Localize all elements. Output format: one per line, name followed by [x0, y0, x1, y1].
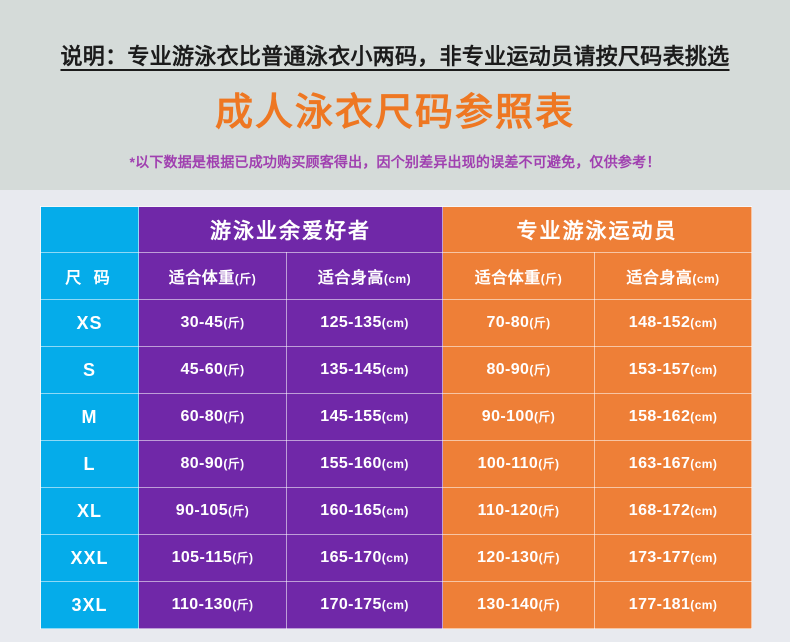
cell-pro-height: 153-157(cm) [595, 347, 752, 394]
cell-amateur-height-value: 155-160 [320, 455, 382, 472]
cell-amateur-weight-value: 60-80 [180, 408, 223, 425]
cell-pro-weight: 120-130(斤) [443, 535, 595, 582]
cell-pro-height-unit: (cm) [690, 504, 717, 518]
cell-amateur-height-unit: (cm) [382, 410, 409, 424]
cell-pro-weight: 130-140(斤) [443, 582, 595, 629]
cell-pro-height: 163-167(cm) [595, 441, 752, 488]
cell-amateur-weight-value: 110-130 [172, 596, 233, 613]
table-row: XS 30-45(斤) 125-135(cm) 70-80(斤) 148-152… [41, 300, 752, 347]
column-header-amateur-weight-unit: (斤) [235, 272, 257, 286]
column-header-pro-weight-label: 适合体重 [475, 270, 541, 287]
cell-amateur-height-value: 165-170 [320, 549, 382, 566]
cell-pro-height-unit: (cm) [690, 316, 717, 330]
column-header-pro-height-label: 适合身高 [626, 270, 692, 287]
cell-pro-weight-value: 70-80 [486, 314, 529, 331]
cell-amateur-height-value: 170-175 [320, 596, 382, 613]
cell-pro-height-unit: (cm) [690, 363, 717, 377]
cell-amateur-height-unit: (cm) [382, 504, 409, 518]
cell-amateur-height: 155-160(cm) [287, 441, 443, 488]
column-header-pro-weight: 适合体重(斤) [443, 253, 595, 300]
cell-amateur-weight: 105-115(斤) [139, 535, 287, 582]
instruction-note-text: 说明：专业游泳衣比普通泳衣小两码，非专业运动员请按尺码表挑选 [60, 44, 729, 69]
cell-pro-height-unit: (cm) [690, 457, 717, 471]
group-header-professional: 专业游泳运动员 [443, 207, 752, 253]
cell-amateur-weight-unit: (斤) [228, 504, 249, 518]
cell-amateur-height: 125-135(cm) [287, 300, 443, 347]
cell-amateur-weight-unit: (斤) [223, 316, 244, 330]
cell-pro-weight: 110-120(斤) [443, 488, 595, 535]
cell-pro-weight-unit: (斤) [529, 363, 550, 377]
cell-pro-height-value: 168-172 [629, 502, 691, 519]
header-band: 说明：专业游泳衣比普通泳衣小两码，非专业运动员请按尺码表挑选 成人泳衣尺码参照表… [0, 0, 790, 190]
table-row: M 60-80(斤) 145-155(cm) 90-100(斤) 158-162… [41, 394, 752, 441]
cell-pro-height-unit: (cm) [690, 410, 717, 424]
table-sub-header-row: 尺 码 适合体重(斤) 适合身高(cm) 适合体重(斤) 适合身高(cm) [41, 253, 752, 300]
cell-size: M [41, 394, 139, 441]
cell-amateur-weight-unit: (斤) [232, 598, 253, 612]
cell-pro-weight-unit: (斤) [534, 410, 555, 424]
column-header-amateur-height: 适合身高(cm) [287, 253, 443, 300]
cell-amateur-height: 135-145(cm) [287, 347, 443, 394]
table-group-header-row: 游泳业余爱好者 专业游泳运动员 [41, 207, 752, 253]
column-header-pro-height-unit: (cm) [692, 272, 719, 286]
cell-amateur-weight-value: 90-105 [176, 502, 228, 519]
table-row: S 45-60(斤) 135-145(cm) 80-90(斤) 153-157(… [41, 347, 752, 394]
cell-pro-height: 168-172(cm) [595, 488, 752, 535]
cell-pro-height-value: 153-157 [629, 361, 691, 378]
cell-pro-weight-value: 80-90 [486, 361, 529, 378]
cell-amateur-height-unit: (cm) [382, 551, 409, 565]
cell-amateur-height-unit: (cm) [382, 363, 409, 377]
cell-pro-height: 177-181(cm) [595, 582, 752, 629]
disclaimer-note: *以下数据是根据已成功购买顾客得出，因个别差异出现的误差不可避免，仅供参考！ [0, 152, 790, 172]
cell-size: 3XL [41, 582, 139, 629]
cell-amateur-weight: 80-90(斤) [139, 441, 287, 488]
cell-amateur-height: 170-175(cm) [287, 582, 443, 629]
instruction-note: 说明：专业游泳衣比普通泳衣小两码，非专业运动员请按尺码表挑选 [0, 44, 790, 69]
page-title: 成人泳衣尺码参照表 [0, 92, 790, 136]
cell-size: XL [41, 488, 139, 535]
cell-amateur-weight-unit: (斤) [232, 551, 253, 565]
cell-pro-height-value: 177-181 [629, 596, 691, 613]
cell-amateur-weight-unit: (斤) [223, 410, 244, 424]
cell-pro-weight-value: 120-130 [477, 549, 539, 566]
cell-amateur-weight-unit: (斤) [223, 457, 244, 471]
column-header-size: 尺 码 [41, 253, 139, 300]
cell-amateur-weight-unit: (斤) [223, 363, 244, 377]
column-header-amateur-weight: 适合体重(斤) [139, 253, 287, 300]
cell-pro-weight-value: 100-110 [478, 455, 539, 472]
cell-pro-weight-unit: (斤) [538, 457, 559, 471]
cell-amateur-weight-value: 80-90 [180, 455, 223, 472]
cell-pro-height-value: 163-167 [629, 455, 691, 472]
cell-pro-weight-unit: (斤) [539, 551, 560, 565]
cell-size: L [41, 441, 139, 488]
cell-amateur-height: 145-155(cm) [287, 394, 443, 441]
cell-amateur-height-unit: (cm) [382, 598, 409, 612]
cell-amateur-height-value: 125-135 [320, 314, 382, 331]
cell-size: S [41, 347, 139, 394]
cell-amateur-weight: 60-80(斤) [139, 394, 287, 441]
table-row: XL 90-105(斤) 160-165(cm) 110-120(斤) 168-… [41, 488, 752, 535]
group-header-size-blank [41, 207, 139, 253]
cell-amateur-weight-value: 30-45 [180, 314, 223, 331]
cell-pro-weight: 70-80(斤) [443, 300, 595, 347]
cell-amateur-weight: 30-45(斤) [139, 300, 287, 347]
size-chart-table: 游泳业余爱好者 专业游泳运动员 尺 码 适合体重(斤) 适合身高(cm) 适合体… [40, 206, 752, 629]
cell-amateur-height: 160-165(cm) [287, 488, 443, 535]
cell-pro-weight-value: 90-100 [482, 408, 534, 425]
cell-amateur-weight-value: 105-115 [172, 549, 233, 566]
cell-pro-height-unit: (cm) [690, 598, 717, 612]
cell-pro-weight-value: 130-140 [477, 596, 539, 613]
cell-pro-weight-unit: (斤) [538, 504, 559, 518]
cell-pro-weight-unit: (斤) [529, 316, 550, 330]
cell-amateur-height: 165-170(cm) [287, 535, 443, 582]
cell-pro-weight: 80-90(斤) [443, 347, 595, 394]
cell-size: XXL [41, 535, 139, 582]
cell-pro-height: 173-177(cm) [595, 535, 752, 582]
group-header-amateur: 游泳业余爱好者 [139, 207, 443, 253]
cell-amateur-height-unit: (cm) [382, 316, 409, 330]
column-header-pro-weight-unit: (斤) [541, 272, 563, 286]
table-row: XXL 105-115(斤) 165-170(cm) 120-130(斤) 17… [41, 535, 752, 582]
cell-pro-weight-unit: (斤) [539, 598, 560, 612]
cell-pro-height-unit: (cm) [690, 551, 717, 565]
cell-pro-height: 148-152(cm) [595, 300, 752, 347]
column-header-amateur-height-label: 适合身高 [318, 270, 384, 287]
cell-amateur-height-unit: (cm) [382, 457, 409, 471]
cell-pro-weight-value: 110-120 [478, 502, 539, 519]
table-row: L 80-90(斤) 155-160(cm) 100-110(斤) 163-16… [41, 441, 752, 488]
cell-pro-weight: 90-100(斤) [443, 394, 595, 441]
cell-amateur-height-value: 135-145 [320, 361, 382, 378]
cell-pro-weight: 100-110(斤) [443, 441, 595, 488]
cell-amateur-weight: 90-105(斤) [139, 488, 287, 535]
cell-amateur-weight: 110-130(斤) [139, 582, 287, 629]
cell-amateur-weight-value: 45-60 [180, 361, 223, 378]
cell-amateur-weight: 45-60(斤) [139, 347, 287, 394]
cell-pro-height-value: 158-162 [629, 408, 691, 425]
column-header-amateur-height-unit: (cm) [384, 272, 411, 286]
cell-size: XS [41, 300, 139, 347]
table-row: 3XL 110-130(斤) 170-175(cm) 130-140(斤) 17… [41, 582, 752, 629]
cell-pro-height-value: 148-152 [629, 314, 691, 331]
cell-amateur-height-value: 160-165 [320, 502, 382, 519]
cell-amateur-height-value: 145-155 [320, 408, 382, 425]
column-header-pro-height: 适合身高(cm) [595, 253, 752, 300]
column-header-amateur-weight-label: 适合体重 [169, 270, 235, 287]
cell-pro-height: 158-162(cm) [595, 394, 752, 441]
cell-pro-height-value: 173-177 [629, 549, 691, 566]
